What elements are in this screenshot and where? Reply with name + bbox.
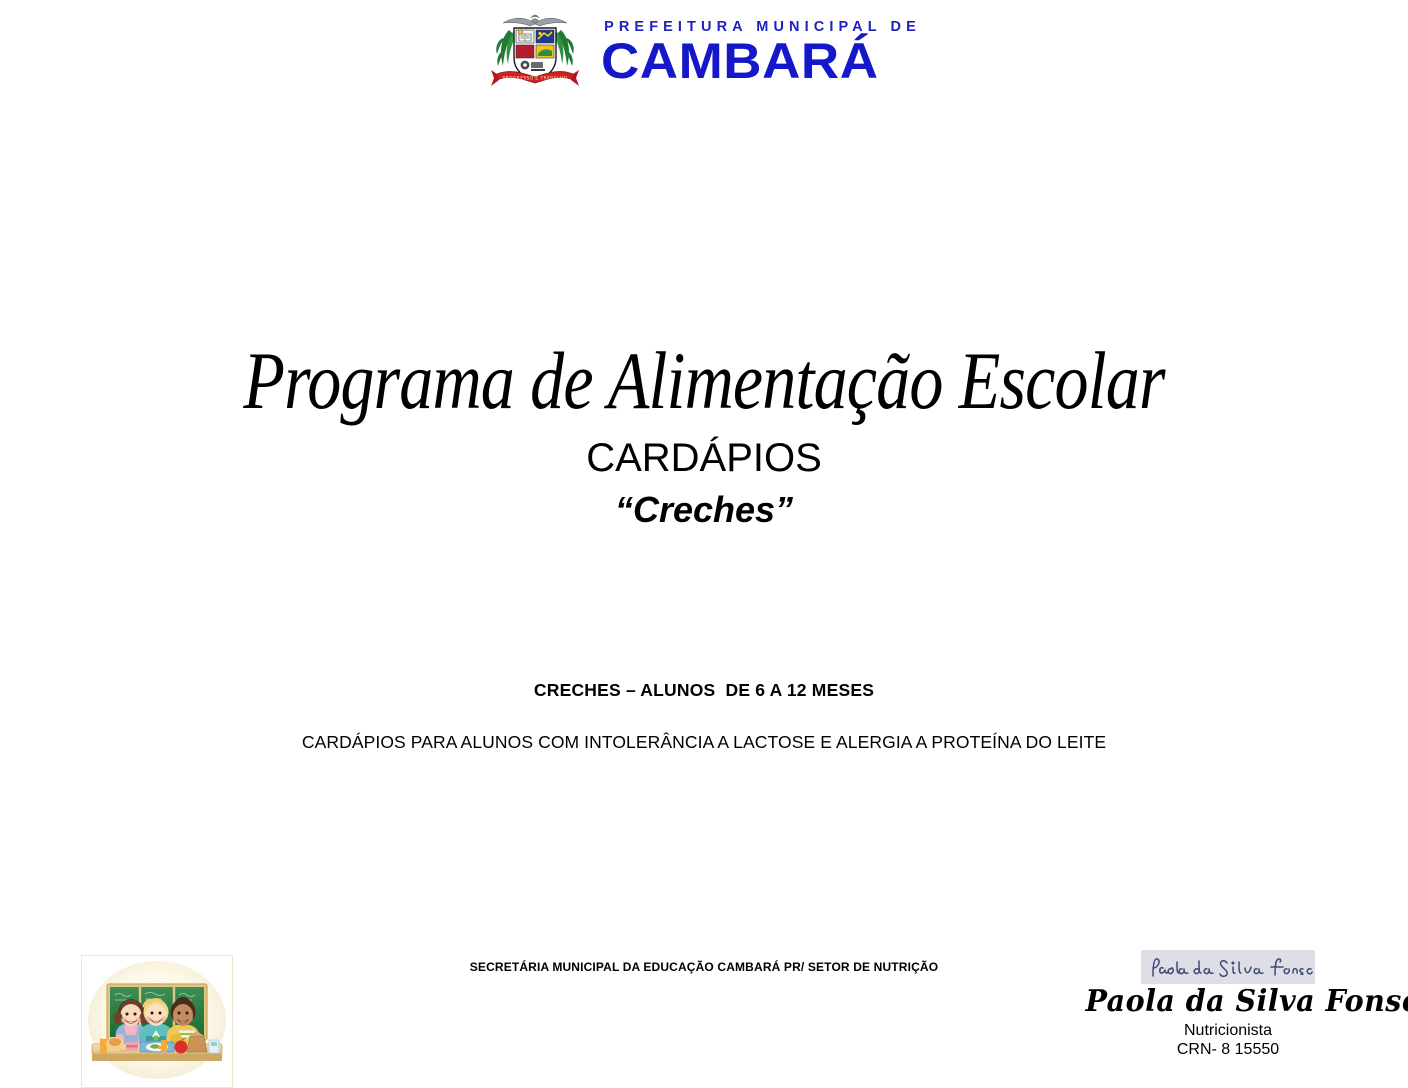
dietary-restriction-note: CARDÁPIOS PARA ALUNOS COM INTOLERÂNCIA A…: [0, 732, 1408, 753]
handwritten-signature-scan-image: [1141, 950, 1315, 984]
svg-text:PROGRESSO E TRABALHO: PROGRESSO E TRABALHO: [503, 75, 568, 81]
signature-role: Nutricionista: [1078, 1022, 1378, 1040]
page-subtitle-quoted: “Creches”: [0, 492, 1408, 528]
signature-name: Paola da Silva Fonseca: [1086, 986, 1371, 1018]
cambara-label: CAMBARÁ: [601, 38, 879, 84]
municipality-wordmark: PREFEITURA MUNICIPAL DE CAMBARÁ: [601, 20, 921, 88]
page-title: Programa de Alimentação Escolar: [120, 340, 1289, 422]
info-block: CRECHES – ALUNOS DE 6 A 12 MESES CARDÁPI…: [0, 680, 1408, 753]
page-subtitle: CARDÁPIOS: [0, 438, 1408, 478]
age-group-heading: CRECHES – ALUNOS DE 6 A 12 MESES: [0, 680, 1408, 701]
title-block: Programa de Alimentação Escolar CARDÁPIO…: [0, 340, 1408, 528]
signature-block: Paola da Silva Fonseca Nutricionista CRN…: [1078, 950, 1378, 1059]
signature-registration: CRN- 8 15550: [1078, 1041, 1378, 1059]
coat-of-arms-icon: PROGRESSO E TRABALHO: [487, 8, 583, 100]
children-lunch-illustration: [81, 955, 233, 1088]
header-logo-block: PROGRESSO E TRABALHO PREFEITURA MUNICIPA…: [0, 4, 1408, 104]
